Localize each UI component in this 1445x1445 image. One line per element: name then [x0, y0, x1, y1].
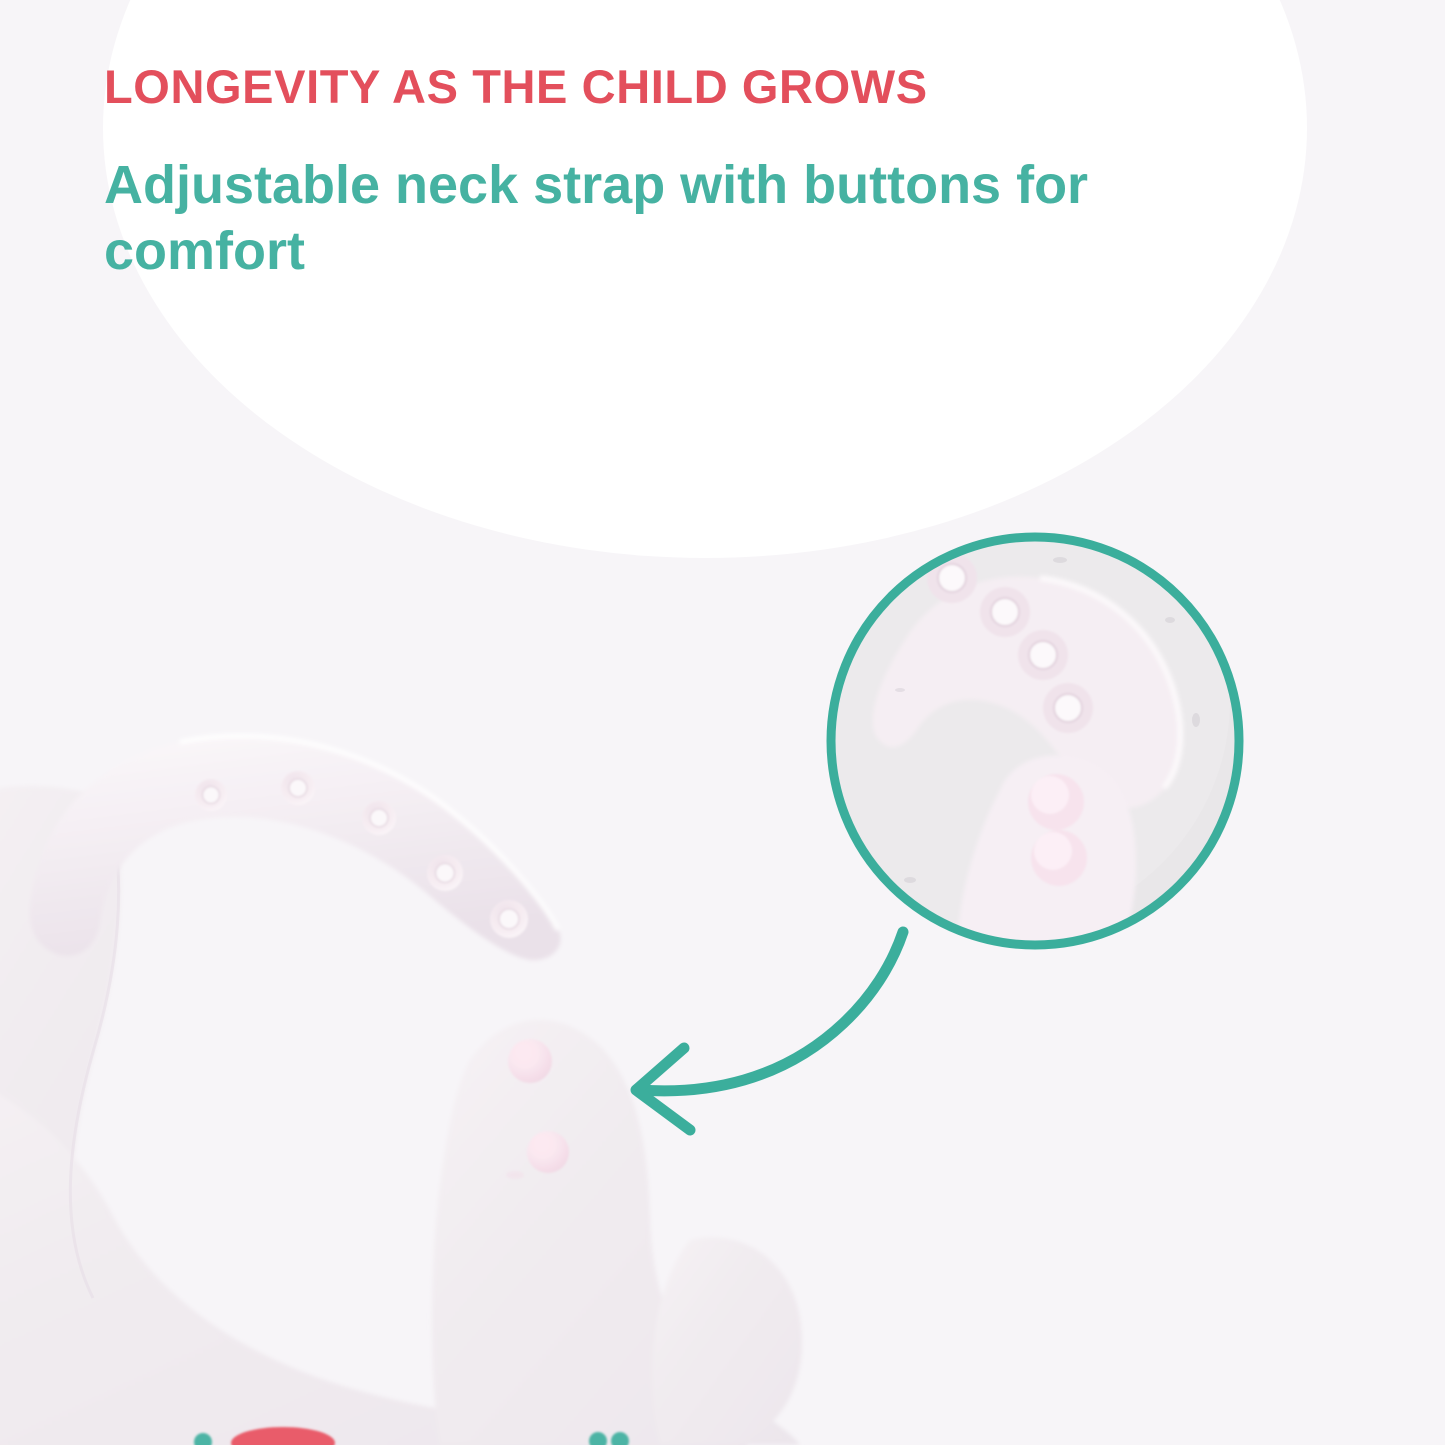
page-title: LONGEVITY AS THE CHILD GROWS	[104, 62, 1244, 111]
callout-text-block: LONGEVITY AS THE CHILD GROWS Adjustable …	[104, 62, 1244, 285]
infographic-canvas: LONGEVITY AS THE CHILD GROWS Adjustable …	[0, 0, 1445, 1445]
subtitle-text: Adjustable neck strap with buttons for c…	[104, 153, 1234, 285]
